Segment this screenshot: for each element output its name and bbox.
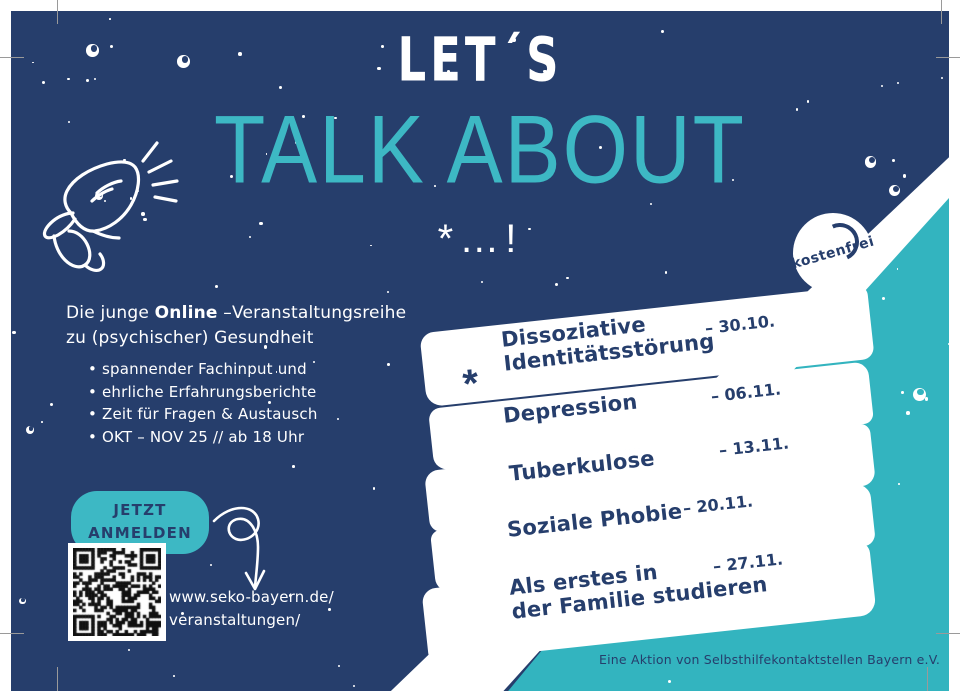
intro-bullet-list: spannender Fachinput und ehrliche Erfahr…: [66, 358, 436, 448]
list-item: Soziale Phobie: [506, 500, 683, 542]
list-item: Dissoziative Identitätsstörung: [500, 306, 716, 376]
event-date: – 13.11.: [718, 433, 790, 459]
qr-code[interactable]: [68, 543, 166, 641]
event-title: Tuberkulose: [508, 447, 656, 486]
event-title: Soziale Phobie: [506, 500, 683, 542]
list-item: Zeit für Fragen & Austausch: [88, 403, 436, 426]
event-date: – 06.11.: [710, 379, 782, 405]
intro-lead: Die junge Online –Veranstaltungsreihe zu…: [66, 301, 436, 350]
crop-mark-top-left-horizontal: [0, 57, 24, 58]
website-url[interactable]: www.seko-bayern.de/ veranstaltungen/: [169, 586, 334, 633]
register-button-line-1: JETZT: [113, 501, 166, 519]
crop-mark-top-left-vertical: [57, 0, 58, 24]
poster-canvas: LET´S TALK ABOUT *…! kostenfrei Die jung…: [11, 11, 949, 691]
list-item: ehrliche Erfahrungsberichte: [88, 381, 436, 404]
list-item: OKT – NOV 25 // ab 18 Uhr: [88, 426, 436, 449]
list-item: Tuberkulose: [508, 447, 656, 486]
intro-block: Die junge Online –Veranstaltungsreihe zu…: [66, 301, 436, 448]
event-list: * Dissoziative Identitätsstörung – 30.10…: [420, 301, 880, 631]
crop-mark-bottom-left-horizontal: [0, 633, 24, 634]
crop-mark-bottom-left-vertical: [57, 667, 58, 691]
kostenfrei-badge: kostenfrei: [793, 213, 873, 293]
qr-code-image: [73, 548, 161, 636]
event-card: * Dissoziative Identitätsstörung – 30.10…: [420, 301, 880, 631]
asterisk-marker: *: [461, 363, 481, 404]
event-date: – 20.11.: [682, 491, 754, 517]
intro-lead-suffix: –Veranstaltungsreihe: [218, 303, 407, 323]
intro-lead-bold: Online: [155, 303, 218, 323]
intro-lead-line2: zu (psychischer) Gesundheit: [66, 328, 314, 348]
website-url-line-2: veranstaltungen/: [169, 611, 300, 629]
list-item: spannender Fachinput und: [88, 358, 436, 381]
headline-line-1: LET´S: [11, 30, 949, 91]
register-button-line-2: ANMELDEN: [88, 524, 192, 542]
footer-credit: Eine Aktion von Selbsthilfekontaktstelle…: [599, 652, 940, 667]
megaphone-icon: [31, 139, 181, 288]
crop-mark-top-right-vertical: [941, 0, 942, 24]
website-url-line-1: www.seko-bayern.de/: [169, 588, 334, 606]
crop-mark-bottom-right-vertical: [927, 667, 928, 691]
crop-mark-bottom-right-horizontal: [936, 633, 960, 634]
event-date: – 30.10.: [704, 311, 776, 337]
list-item: Depression: [502, 390, 639, 428]
crop-mark-top-right-horizontal: [936, 57, 960, 58]
intro-lead-prefix: Die junge: [66, 303, 155, 323]
event-title: Depression: [502, 390, 639, 428]
